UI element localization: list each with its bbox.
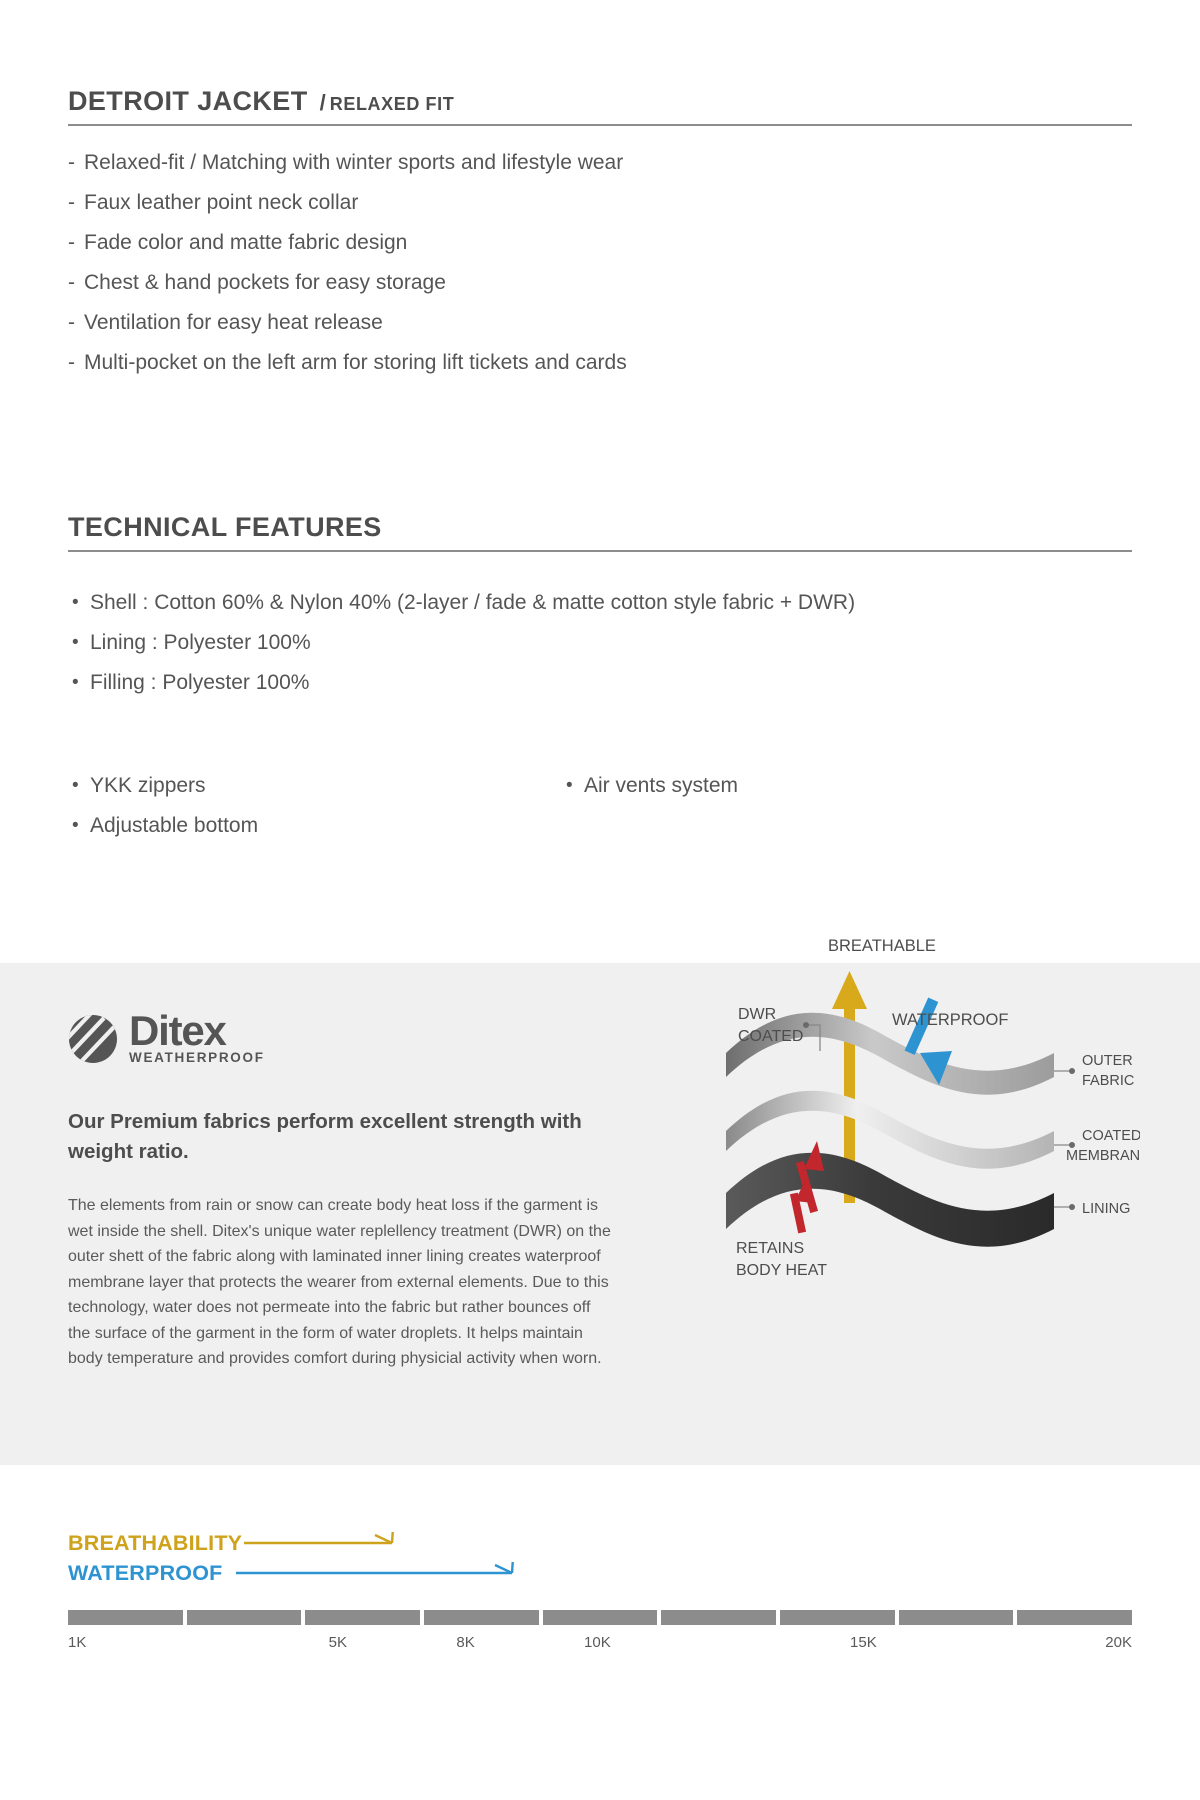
label-lining: LINING xyxy=(1082,1201,1130,1217)
extras-column-left: •YKK zippers •Adjustable bottom xyxy=(68,766,562,846)
scale-segment xyxy=(187,1610,302,1625)
ditex-logo: Ditex WEATHERPROOF xyxy=(68,1011,628,1067)
material-text: Shell : Cotton 60% & Nylon 40% (2-layer … xyxy=(90,591,855,614)
scale-segment xyxy=(899,1610,1014,1625)
scale-segment xyxy=(305,1610,420,1625)
scale-tick: 15K xyxy=(850,1634,877,1651)
extra-text: YKK zippers xyxy=(90,774,206,797)
list-item: •YKK zippers xyxy=(68,766,562,806)
scale-segment xyxy=(780,1610,895,1625)
scale-tick: 10K xyxy=(584,1634,611,1651)
scale-tick: 5K xyxy=(329,1634,347,1651)
scale-segment xyxy=(661,1610,776,1625)
list-item: -Chest & hand pockets for easy storage xyxy=(68,263,1132,303)
scale-segment xyxy=(543,1610,658,1625)
feature-text: Relaxed-fit / Matching with winter sport… xyxy=(84,151,623,174)
dash-marker: - xyxy=(68,343,84,383)
ditex-lead-text: Our Premium fabrics perform excellent st… xyxy=(68,1107,608,1167)
extras-list: •YKK zippers •Adjustable bottom •Air ven… xyxy=(68,766,1132,846)
dash-marker: - xyxy=(68,263,84,303)
extras-column-right: •Air vents system xyxy=(562,766,738,846)
feature-text: Faux leather point neck collar xyxy=(84,191,358,214)
spec-sheet-page: DETROIT JACKET / RELAXED FIT -Relaxed-fi… xyxy=(0,0,1200,1800)
breathability-arrow-icon xyxy=(244,1532,404,1554)
scale-segment xyxy=(68,1610,183,1625)
feature-text: Ventilation for easy heat release xyxy=(84,311,383,334)
scale-segment xyxy=(424,1610,539,1625)
list-item: •Shell : Cotton 60% & Nylon 40% (2-layer… xyxy=(68,583,1132,623)
scale-row-breathability: BREATHABILITY xyxy=(68,1528,1132,1558)
product-title-block: DETROIT JACKET / RELAXED FIT xyxy=(68,86,1132,126)
fabric-diagram-svg: BREATHABLE WATERPROOF DWR COATED OUTER F… xyxy=(720,893,1140,1313)
dash-marker: - xyxy=(68,303,84,343)
label-coated-membrane-1: COATED xyxy=(1082,1128,1140,1144)
waterproof-label: WATERPROOF xyxy=(68,1561,222,1586)
list-item: •Filling : Polyester 100% xyxy=(68,663,1132,703)
label-retains-2: BODY HEAT xyxy=(736,1262,827,1279)
material-text: Lining : Polyester 100% xyxy=(90,631,311,654)
extra-text: Air vents system xyxy=(584,774,738,797)
scale-segment xyxy=(1017,1610,1132,1625)
list-item: -Fade color and matte fabric design xyxy=(68,223,1132,263)
label-breathable: BREATHABLE xyxy=(828,937,936,955)
technical-heading-label: TECHNICAL FEATURES xyxy=(68,512,382,543)
ditex-logo-icon xyxy=(68,1014,118,1064)
ditex-brand-tagline: WEATHERPROOF xyxy=(129,1050,265,1066)
feature-text: Fade color and matte fabric design xyxy=(84,231,407,254)
breathability-label: BREATHABILITY xyxy=(68,1531,242,1556)
scale-row-waterproof: WATERPROOF xyxy=(68,1558,1132,1588)
fabric-layer-diagram: BREATHABLE WATERPROOF DWR COATED OUTER F… xyxy=(720,893,1140,1318)
ditex-panel: Ditex WEATHERPROOF Our Premium fabrics p… xyxy=(0,963,1200,1465)
label-retains-1: RETAINS xyxy=(736,1240,804,1257)
list-item: -Relaxed-fit / Matching with winter spor… xyxy=(68,143,1132,183)
list-item: -Ventilation for easy heat release xyxy=(68,303,1132,343)
list-item: -Faux leather point neck collar xyxy=(68,183,1132,223)
label-dwr-coated-1: DWR xyxy=(738,1006,776,1023)
bullet-marker: • xyxy=(72,583,79,623)
ditex-wordmark: Ditex WEATHERPROOF xyxy=(129,1012,265,1066)
list-item: •Adjustable bottom xyxy=(68,806,562,846)
scale-tick: 20K xyxy=(1105,1634,1132,1651)
materials-list: •Shell : Cotton 60% & Nylon 40% (2-layer… xyxy=(68,583,1132,703)
waterproof-arrow-icon xyxy=(236,1562,526,1584)
feature-text: Multi-pocket on the left arm for storing… xyxy=(84,351,627,374)
list-item: •Lining : Polyester 100% xyxy=(68,623,1132,663)
dash-marker: - xyxy=(68,143,84,183)
list-item: •Air vents system xyxy=(562,766,738,806)
label-dwr-coated-2: COATED xyxy=(738,1028,803,1045)
product-fit-label: RELAXED FIT xyxy=(330,94,455,115)
page-title: DETROIT JACKET xyxy=(68,86,308,117)
scale-tick-labels: 1K 5K 8K 10K 15K 20K xyxy=(68,1634,1132,1656)
feature-text: Chest & hand pockets for easy storage xyxy=(84,271,446,294)
technical-heading: TECHNICAL FEATURES xyxy=(68,512,1132,552)
material-text: Filling : Polyester 100% xyxy=(90,671,309,694)
product-heading: DETROIT JACKET / RELAXED FIT xyxy=(68,86,1132,126)
ditex-brand-name: Ditex xyxy=(129,1012,265,1050)
extra-text: Adjustable bottom xyxy=(90,814,258,837)
dash-marker: - xyxy=(68,223,84,263)
list-item: -Multi-pocket on the left arm for storin… xyxy=(68,343,1132,383)
title-separator: / xyxy=(320,90,326,116)
bullet-marker: • xyxy=(72,766,79,806)
bullet-marker: • xyxy=(72,806,79,846)
label-coated-membrane-2: MEMBRANE xyxy=(1066,1148,1140,1164)
technical-features-block: TECHNICAL FEATURES xyxy=(68,512,1132,552)
label-outer-fabric-1: OUTER xyxy=(1082,1053,1133,1069)
ditex-text-block: Ditex WEATHERPROOF Our Premium fabrics p… xyxy=(68,1011,628,1372)
bullet-marker: • xyxy=(566,766,573,806)
ditex-body-text: The elements from rain or snow can creat… xyxy=(68,1193,616,1372)
label-waterproof: WATERPROOF xyxy=(892,1011,1008,1029)
scale-tick: 1K xyxy=(68,1634,86,1651)
bullet-marker: • xyxy=(72,663,79,703)
scale-segmented-bar xyxy=(68,1610,1132,1625)
bullet-marker: • xyxy=(72,623,79,663)
coated-membrane-layer xyxy=(726,1091,1054,1169)
label-outer-fabric-2: FABRIC xyxy=(1082,1073,1134,1089)
performance-scale: BREATHABILITY WATERPROOF xyxy=(68,1528,1132,1656)
dash-marker: - xyxy=(68,183,84,223)
product-feature-list: -Relaxed-fit / Matching with winter spor… xyxy=(68,143,1132,383)
scale-tick: 8K xyxy=(456,1634,474,1651)
